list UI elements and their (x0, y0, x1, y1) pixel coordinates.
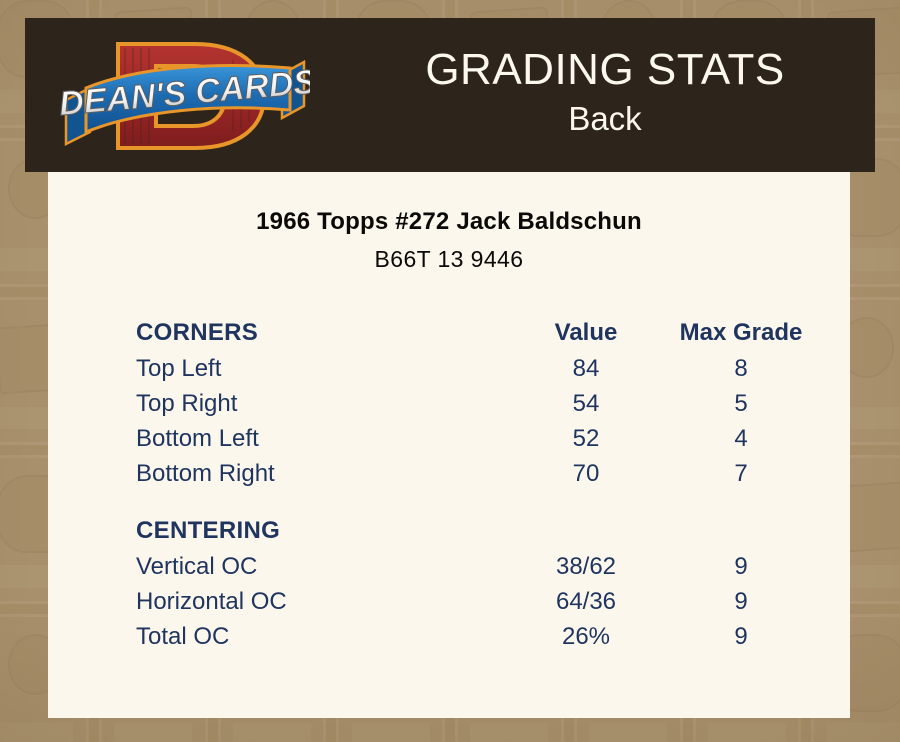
table-row: Horizontal OC 64/36 9 (136, 584, 816, 619)
row-max-grade: 9 (666, 619, 816, 654)
row-max-grade: 9 (666, 549, 816, 584)
grading-stats-body: CORNERS Value Max Grade Top Left 84 8 To… (136, 307, 816, 654)
row-max-grade: 7 (666, 456, 816, 491)
section-title-corners: CORNERS (136, 307, 506, 351)
section-header-row: CENTERING (136, 505, 816, 549)
grading-stats-page: DEAN'S CARDS GRADING STATS Back 1966 Top… (0, 0, 900, 742)
row-max-grade: 9 (666, 584, 816, 619)
table-header-row: CORNERS Value Max Grade (136, 307, 816, 351)
row-value: 26% (506, 619, 666, 654)
row-max-grade: 8 (666, 351, 816, 386)
column-header-value: Value (506, 307, 666, 351)
row-max-grade: 4 (666, 421, 816, 456)
page-subtitle: Back (568, 97, 641, 142)
table-row: Top Left 84 8 (136, 351, 816, 386)
row-label: Bottom Right (136, 456, 506, 491)
row-value: 84 (506, 351, 666, 386)
card-title: 1966 Topps #272 Jack Baldschun (48, 208, 850, 236)
table-row: Top Right 54 5 (136, 386, 816, 421)
card-serial-number: B66T 13 9446 (48, 246, 850, 273)
row-value: 64/36 (506, 584, 666, 619)
table-row: Total OC 26% 9 (136, 619, 816, 654)
row-value: 52 (506, 421, 666, 456)
deans-cards-logo-icon[interactable]: DEAN'S CARDS (60, 26, 310, 166)
row-value: 54 (506, 386, 666, 421)
row-value: 38/62 (506, 549, 666, 584)
section-title-centering: CENTERING (136, 505, 506, 549)
row-label: Top Right (136, 386, 506, 421)
row-max-grade: 5 (666, 386, 816, 421)
row-label: Bottom Left (136, 421, 506, 456)
table-row: Vertical OC 38/62 9 (136, 549, 816, 584)
row-label: Vertical OC (136, 549, 506, 584)
row-value: 70 (506, 456, 666, 491)
row-label: Horizontal OC (136, 584, 506, 619)
column-header-max-grade: Max Grade (666, 307, 816, 351)
header-bar: DEAN'S CARDS GRADING STATS Back (25, 18, 875, 172)
grading-stats-table: CORNERS Value Max Grade Top Left 84 8 To… (136, 307, 816, 654)
page-title: GRADING STATS (425, 48, 784, 93)
row-label: Total OC (136, 619, 506, 654)
content-panel: 1966 Topps #272 Jack Baldschun B66T 13 9… (48, 172, 850, 718)
table-row: Bottom Left 52 4 (136, 421, 816, 456)
row-label: Top Left (136, 351, 506, 386)
table-row: Bottom Right 70 7 (136, 456, 816, 491)
header-titles: GRADING STATS Back (325, 18, 885, 172)
section-spacer (136, 491, 816, 505)
